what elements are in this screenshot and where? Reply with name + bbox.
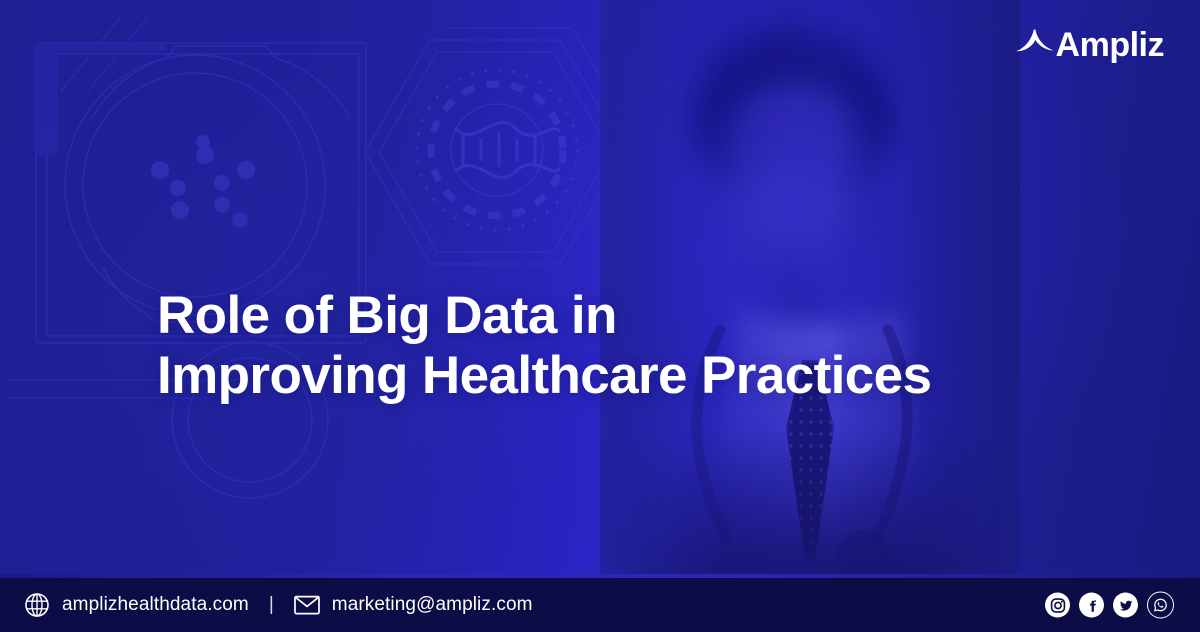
whatsapp-icon <box>1153 598 1168 613</box>
twitter-icon <box>1118 597 1134 613</box>
brand-logo[interactable]: Ampliz <box>1015 28 1164 62</box>
footer-website[interactable]: amplizhealthdata.com <box>24 592 249 618</box>
social-instagram[interactable] <box>1045 593 1070 618</box>
social-whatsapp[interactable] <box>1147 592 1174 619</box>
envelope-icon <box>294 595 320 615</box>
facebook-icon <box>1084 597 1100 613</box>
social-links <box>1045 592 1174 619</box>
headline-line-2: Improving Healthcare Practices <box>157 346 1057 406</box>
footer-email[interactable]: marketing@ampliz.com <box>294 594 533 616</box>
social-twitter[interactable] <box>1113 593 1138 618</box>
page-title: Role of Big Data in Improving Healthcare… <box>157 286 1057 406</box>
globe-icon <box>24 592 50 618</box>
footer-divider: | <box>269 594 274 616</box>
headline-line-1: Role of Big Data in <box>157 286 617 345</box>
social-facebook[interactable] <box>1079 593 1104 618</box>
footer-website-text: amplizhealthdata.com <box>62 594 249 616</box>
footer-email-text: marketing@ampliz.com <box>332 594 533 616</box>
instagram-icon <box>1050 597 1066 613</box>
ampliz-chevron-icon <box>1015 28 1055 62</box>
footer-bar: amplizhealthdata.com | marketing@ampliz.… <box>0 578 1200 632</box>
footer-contact-group: amplizhealthdata.com | marketing@ampliz.… <box>0 592 533 618</box>
banner-root: Ampliz Role of Big Data in Improving Hea… <box>0 0 1200 632</box>
brand-name: Ampliz <box>1056 28 1164 62</box>
